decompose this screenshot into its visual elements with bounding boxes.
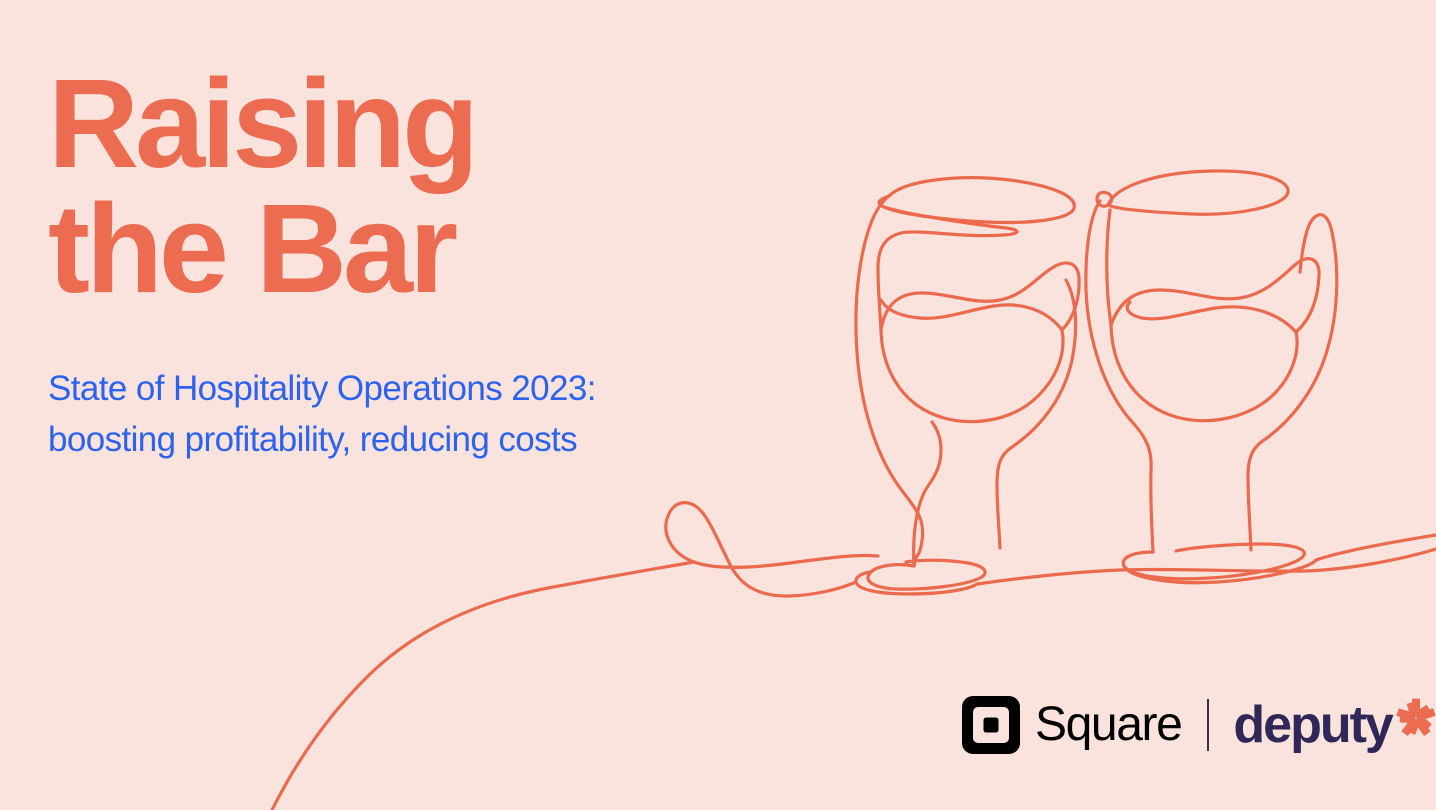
page-title: Raising the Bar bbox=[48, 62, 728, 311]
deputy-pinwheel-icon bbox=[1394, 696, 1436, 740]
deputy-wordmark: deputy bbox=[1233, 699, 1391, 751]
logo-divider bbox=[1207, 699, 1209, 751]
square-logo[interactable]: Square bbox=[962, 696, 1181, 754]
deputy-logo[interactable]: deputy bbox=[1233, 696, 1436, 754]
logo-bar: Square deputy bbox=[962, 694, 1436, 756]
cover-text-block: Raising the Bar State of Hospitality Ope… bbox=[48, 62, 728, 465]
square-logo-icon bbox=[962, 696, 1020, 754]
square-wordmark: Square bbox=[1035, 701, 1181, 749]
page-subtitle: State of Hospitality Operations 2023: bo… bbox=[48, 311, 728, 464]
report-cover-slide: Raising the Bar State of Hospitality Ope… bbox=[0, 0, 1436, 810]
